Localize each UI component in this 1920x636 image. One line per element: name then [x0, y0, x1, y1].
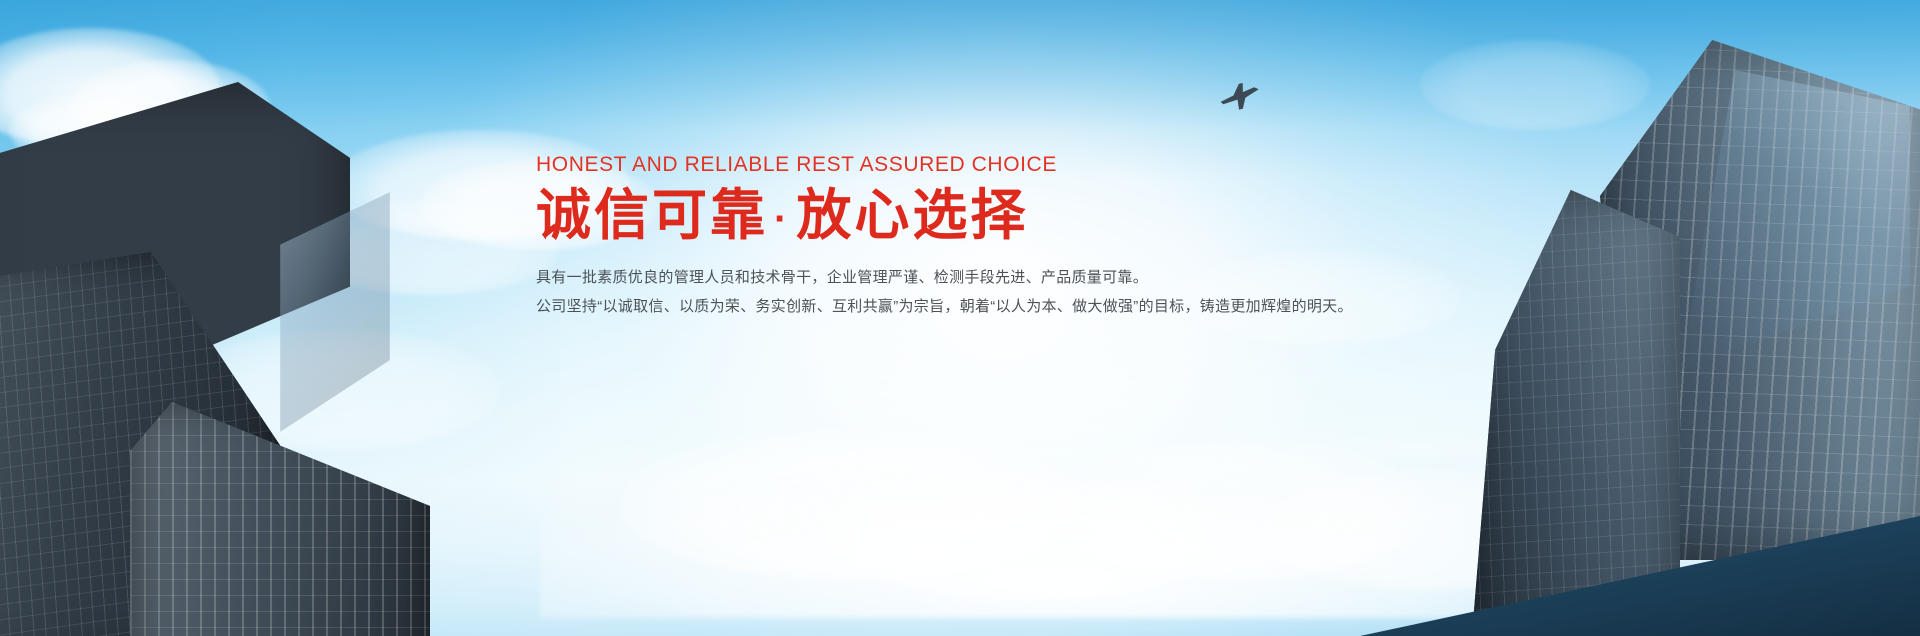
banner-description: 具有一批素质优良的管理人员和技术骨干，企业管理严谨、检测手段先进、产品质量可靠。…	[536, 263, 1376, 322]
headline-part-1: 诚信可靠	[536, 184, 768, 246]
sky-left-gradient	[0, 0, 560, 636]
hero-banner: HONEST AND RELIABLE REST ASSURED CHOICE …	[0, 0, 1920, 636]
banner-eyebrow: HONEST AND RELIABLE REST ASSURED CHOICE	[536, 152, 1376, 177]
description-line-2: 公司坚持“以诚取信、以质为荣、务实创新、互利共赢”为宗旨，朝着“以人为本、做大做…	[536, 292, 1376, 321]
headline-separator: ·	[768, 197, 796, 241]
banner-headline: 诚信可靠·放心选择	[536, 185, 1376, 247]
banner-copy: HONEST AND RELIABLE REST ASSURED CHOICE …	[536, 152, 1376, 321]
description-line-1: 具有一批素质优良的管理人员和技术骨干，企业管理严谨、检测手段先进、产品质量可靠。	[536, 263, 1376, 292]
headline-part-2: 放心选择	[796, 184, 1028, 246]
